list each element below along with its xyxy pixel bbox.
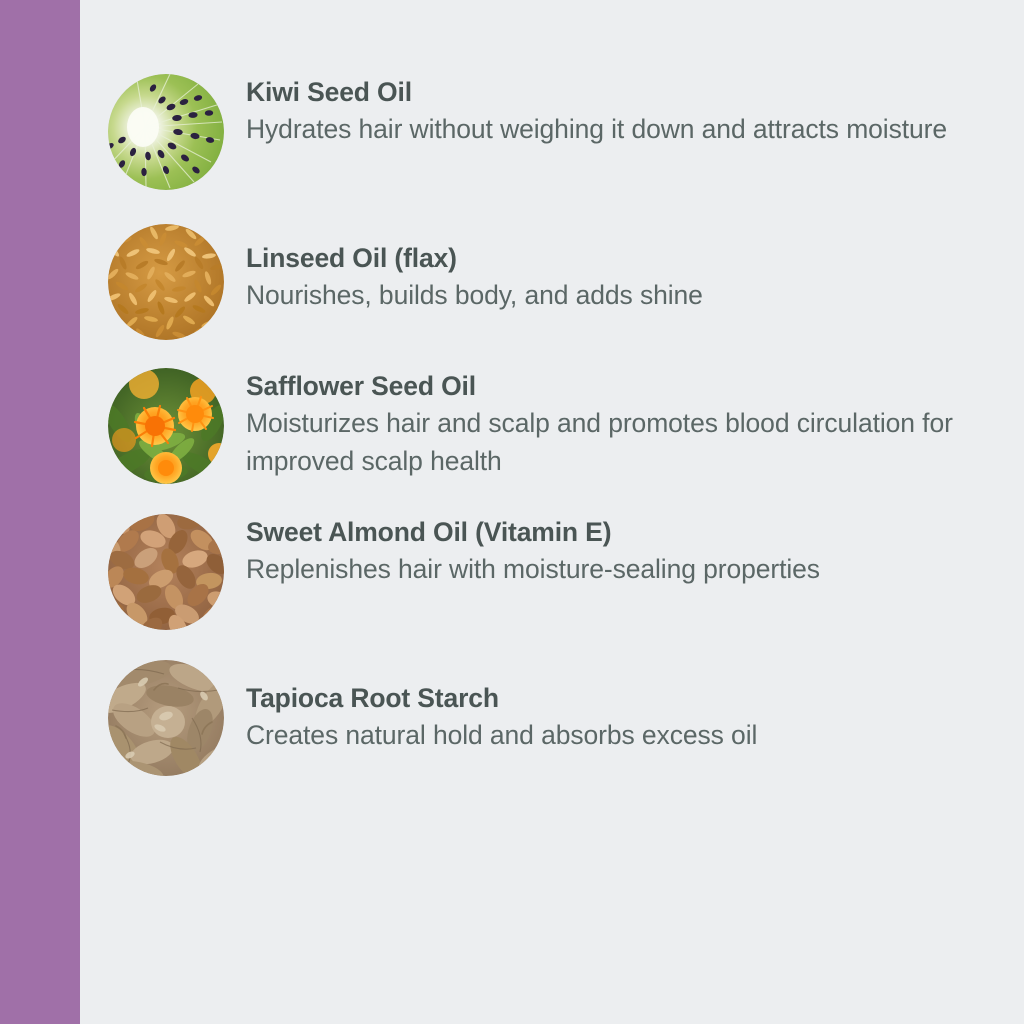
ingredient-description: Nourishes, builds body, and adds shine bbox=[246, 277, 976, 315]
flax-seeds-photo-icon bbox=[108, 224, 224, 340]
list-item: Sweet Almond Oil (Vitamin E) Replenishes… bbox=[108, 514, 1024, 630]
ingredient-description: Replenishes hair with moisture-sealing p… bbox=[246, 551, 976, 589]
ingredient-name: Linseed Oil (flax) bbox=[246, 242, 1024, 274]
tapioca-roots-photo-icon bbox=[108, 660, 224, 776]
list-item: Linseed Oil (flax) Nourishes, builds bod… bbox=[108, 224, 1024, 340]
sidebar-banner: KEY INGREDIENTS bbox=[0, 0, 80, 1024]
ingredient-description: Hydrates hair without weighing it down a… bbox=[246, 111, 976, 149]
ingredient-text: Safflower Seed Oil Moisturizes hair and … bbox=[246, 368, 1024, 481]
ingredient-description: Moisturizes hair and scalp and promotes … bbox=[246, 405, 976, 480]
list-item: Tapioca Root Starch Creates natural hold… bbox=[108, 660, 1024, 776]
ingredient-name: Tapioca Root Starch bbox=[246, 682, 1024, 714]
ingredient-description: Creates natural hold and absorbs excess … bbox=[246, 717, 976, 755]
ingredient-text: Linseed Oil (flax) Nourishes, builds bod… bbox=[246, 224, 1024, 315]
ingredient-name: Sweet Almond Oil (Vitamin E) bbox=[246, 516, 1024, 548]
ingredient-name: Safflower Seed Oil bbox=[246, 370, 1024, 402]
ingredient-list: Kiwi Seed Oil Hydrates hair without weig… bbox=[80, 0, 1024, 1024]
ingredient-text: Kiwi Seed Oil Hydrates hair without weig… bbox=[246, 74, 1024, 149]
sidebar-title: KEY INGREDIENTS bbox=[0, 0, 80, 80]
ingredient-text: Sweet Almond Oil (Vitamin E) Replenishes… bbox=[246, 514, 1024, 589]
almonds-photo-icon bbox=[108, 514, 224, 630]
ingredient-name: Kiwi Seed Oil bbox=[246, 76, 1024, 108]
list-item: Kiwi Seed Oil Hydrates hair without weig… bbox=[108, 74, 1024, 190]
kiwi-slice-photo-icon bbox=[108, 74, 224, 190]
ingredient-text: Tapioca Root Starch Creates natural hold… bbox=[246, 660, 1024, 755]
list-item: Safflower Seed Oil Moisturizes hair and … bbox=[108, 368, 1024, 484]
safflower-flowers-photo-icon bbox=[108, 368, 224, 484]
key-ingredients-panel: KEY INGREDIENTS bbox=[0, 0, 1024, 1024]
